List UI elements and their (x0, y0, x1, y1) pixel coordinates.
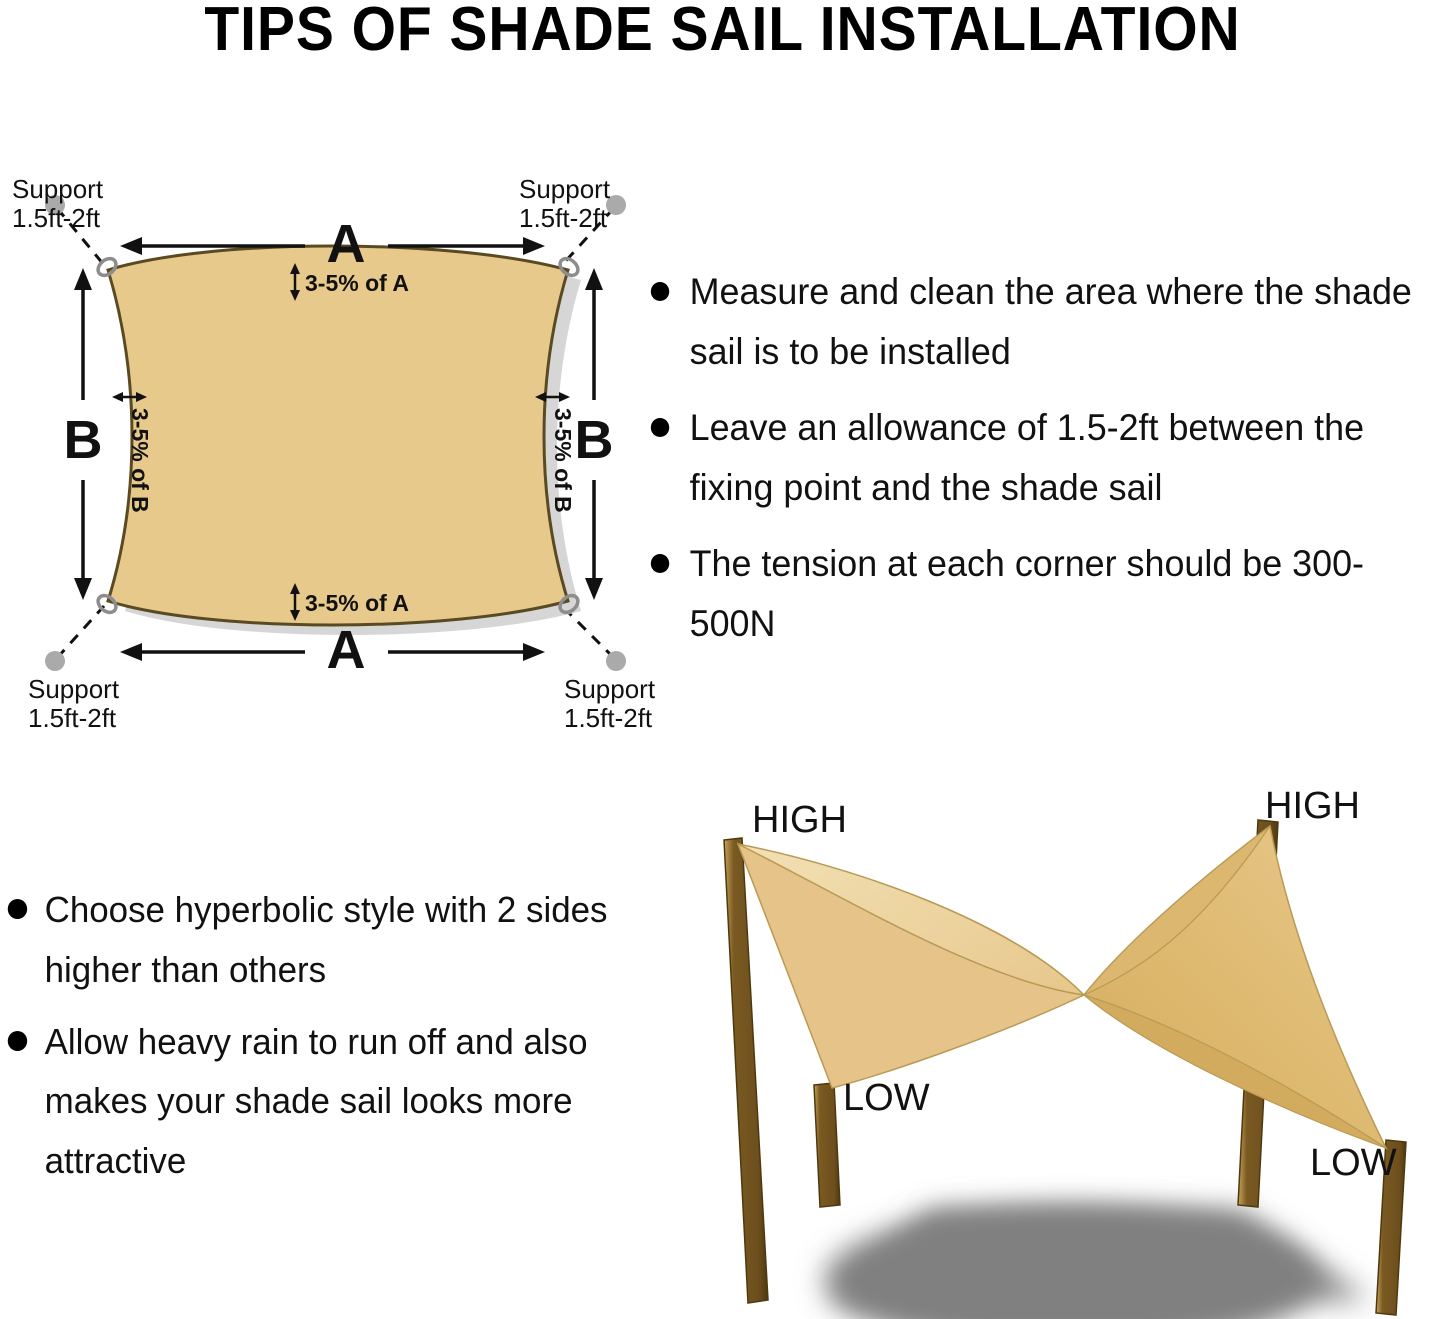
list-item: Leave an allowance of 1.5-2ft between th… (645, 398, 1421, 518)
hyperbolic-sail-illustration: HIGH HIGH LOW LOW (680, 780, 1445, 1319)
label-b-left: B (64, 410, 103, 470)
post-low-left (814, 1083, 840, 1207)
label-high-left: HIGH (752, 799, 847, 841)
support-label-bottom-left-line2: 1.5ft-2ft (28, 703, 117, 733)
hyperbolic-bullet-list: Choose hyperbolic style with 2 sides hig… (0, 880, 640, 1191)
support-label-top-right: Support 1.5ft-2ft (519, 174, 611, 233)
bullet-dot-icon (651, 554, 669, 573)
support-label-top-left-line2: 1.5ft-2ft (12, 203, 101, 233)
label-b-right: B (575, 410, 614, 470)
sag-label-b-right: 3-5% of B (550, 408, 576, 513)
support-label-bottom-right: Support 1.5ft-2ft (564, 674, 656, 733)
page-title: TIPS OF SHADE SAIL INSTALLATION (58, 0, 1387, 65)
tip-text: Leave an allowance of 1.5-2ft between th… (690, 407, 1364, 508)
bullet-dot-icon (651, 282, 669, 301)
label-a-top: A (327, 214, 366, 274)
list-item: Choose hyperbolic style with 2 sides hig… (0, 880, 621, 1000)
list-item: Allow heavy rain to run off and also mak… (0, 1012, 621, 1191)
support-label-top-right-line1: Support (519, 174, 611, 204)
bullet-dot-icon (8, 1031, 27, 1051)
list-item: The tension at each corner should be 300… (645, 534, 1421, 654)
tips-bullet-list: Measure and clean the area where the sha… (645, 262, 1445, 654)
hyperbolic-tips-list: Choose hyperbolic style with 2 sides hig… (0, 880, 640, 1210)
support-label-bottom-left: Support 1.5ft-2ft (28, 674, 120, 733)
support-label-bottom-right-line2: 1.5ft-2ft (564, 703, 653, 733)
label-a-bottom: A (327, 620, 366, 680)
tip-text: Allow heavy rain to run off and also mak… (45, 1021, 588, 1182)
support-label-bottom-right-line1: Support (564, 674, 656, 704)
rectangular-sail-diagram: A 3-5% of A 3-5% of A A (0, 150, 700, 750)
sail-shape (108, 246, 568, 625)
label-high-right: HIGH (1265, 785, 1360, 827)
sag-label-a-bottom: 3-5% of A (305, 590, 409, 616)
tip-text: Measure and clean the area where the sha… (690, 271, 1412, 372)
post-high-left (724, 838, 768, 1303)
sag-label-a-top: 3-5% of A (305, 270, 409, 296)
support-label-top-left-line1: Support (12, 174, 104, 204)
support-label-top-left: Support 1.5ft-2ft (12, 174, 104, 233)
support-label-top-right-line2: 1.5ft-2ft (519, 203, 608, 233)
tip-text: The tension at each corner should be 300… (690, 543, 1364, 644)
installation-tips-list: Measure and clean the area where the sha… (645, 262, 1445, 662)
ground-shadow-quad (830, 1210, 1370, 1300)
label-low-right: LOW (1310, 1142, 1397, 1184)
label-low-left: LOW (843, 1077, 930, 1119)
tip-text: Choose hyperbolic style with 2 sides hig… (45, 889, 608, 990)
sag-label-b-left: 3-5% of B (127, 408, 153, 513)
list-item: Measure and clean the area where the sha… (645, 262, 1421, 382)
support-label-bottom-left-line1: Support (28, 674, 120, 704)
bullet-dot-icon (651, 418, 669, 437)
bullet-dot-icon (8, 899, 27, 919)
